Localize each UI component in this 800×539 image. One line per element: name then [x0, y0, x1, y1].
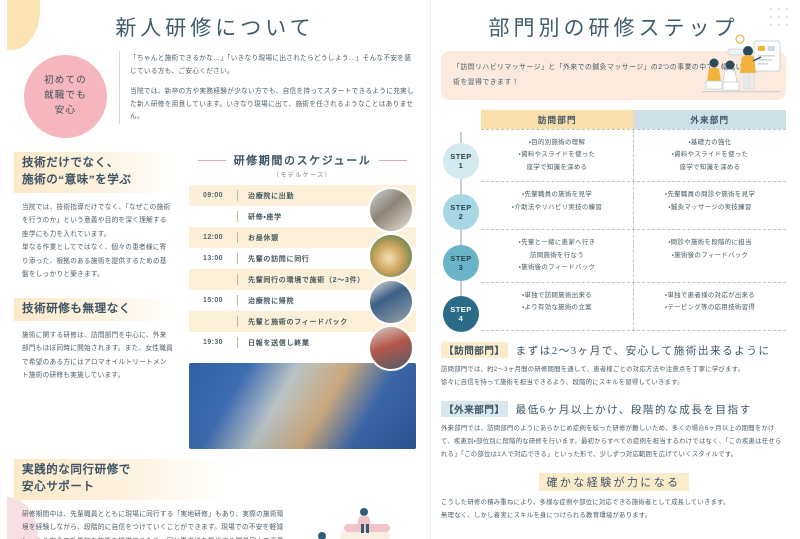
schedule-subtitle: （モデルケース）: [189, 170, 416, 179]
schedule-photo-lunch: [368, 233, 414, 279]
schedule-label: 先輩と施術のフィードバック: [238, 317, 348, 327]
schedule-title-row: 研修期間のスケジュール: [189, 152, 416, 168]
schedule-label: 先輩同行の環境で施術（2〜3件）: [238, 275, 365, 285]
intro-paragraph-1: 「ちゃんと施術できるかな…」「いきなり現場に出されたらどうしよう…」そんな不安を…: [130, 53, 416, 79]
business-note-box: 「訪問リハビリマッサージ」と「外来での鍼灸マッサージ」の2つの事業の中で、幅広い…: [441, 51, 786, 100]
section-head-visit: 【訪問部門】 まずは2〜3ヶ月で、安心して施術出来るように: [441, 342, 786, 358]
schedule-panel: 研修期間のスケジュール （モデルケース） 09:00 治療院に出勤 研修・座学: [189, 152, 416, 449]
step-2-outpatient-cell: ・先輩職員の問診や施術を見学・鍼灸マッサージの実技練習: [634, 182, 786, 229]
step-1-outpatient-cell: ・基礎力の強化・資料やスライドを使った座学で知識を深める: [634, 130, 786, 181]
schedule-photo-visit: [368, 279, 414, 325]
column-header-outpatient: 外来部門: [634, 110, 787, 129]
closing-title: 確かな経験が力になる: [539, 473, 689, 491]
step-label: STEP: [450, 305, 472, 314]
step-number: 2: [459, 212, 464, 221]
step-3-outpatient-cell: ・問診や施術を段階的に担当・施術後のフィードバック: [634, 230, 786, 281]
section-body-outpatient: 外来部門では、訪問部門のようにあらかじめ症例を絞った研修が難しいため、多くの場合…: [441, 423, 786, 462]
block-body-meaning: 当院では、技術指導だけでなく、「なぜこの施術を行うのか」という意義や目的を深く理…: [14, 193, 177, 282]
block-body-accompaniment: 研修期間中は、先輩職員とともに現場に同行する「実地研修」もあり、実際の施術環境を…: [14, 500, 300, 539]
schedule-label: 治療院に出勤: [238, 191, 294, 201]
text-block-meaning: 技術だけでなく、施術の“意味”を学ぶ 当院では、技術指導だけでなく、「なぜこの施…: [14, 152, 177, 282]
schedule-time: 13:00: [189, 255, 237, 262]
right-column: 部門別の研修ステップ 「訪問リハビリマッサージ」と「外来での鍼灸マッサージ」の2…: [430, 0, 800, 539]
steps-row-2: ・先輩職員の施術を見学・介助法やリハビリ実技の練習 ・先輩職員の問診や施術を見学…: [481, 181, 786, 229]
schedule-photo-feedback: [368, 325, 414, 371]
section-body-visit: 訪問部門では、約2〜3ヶ月間の研修期間を通して、患者様ごとの対応方法や注意点を丁…: [441, 364, 786, 390]
step-circle-1: STEP 1: [443, 143, 479, 179]
rule-left: [198, 160, 226, 161]
steps-row-1: ・目的別施術の理解・資料やスライドを使った座学で知識を深める ・基礎力の強化・資…: [481, 129, 786, 181]
step-number: 3: [459, 263, 464, 272]
steps-row-3: ・先輩と一緒に患家へ行き訪問施術を行なう・施術後のフィードバック ・問診や施術を…: [481, 229, 786, 281]
step-4-outpatient-cell: ・単独で患者様の対応が出来る・テーピング等の応用技術習得: [634, 283, 786, 330]
step-label: STEP: [450, 152, 472, 161]
left-text-blocks: 技術だけでなく、施術の“意味”を学ぶ 当院では、技術指導だけでなく、「なぜこの施…: [14, 152, 177, 449]
text-block-accompaniment: 実践的な同行研修で安心サポート: [14, 459, 229, 500]
schedule-title: 研修期間のスケジュール: [234, 152, 372, 168]
steps-bottom-rule: [481, 330, 786, 331]
step-2-visit-cell: ・先輩職員の施術を見学・介助法やリハビリ実技の練習: [481, 182, 634, 229]
schedule-label: 先輩の訪問に同行: [238, 254, 310, 264]
steps-rail: STEP 1 STEP 2 STEP 3 STEP 4: [441, 110, 481, 331]
schedule-time: 12:00: [189, 234, 237, 241]
left-column: 新人研修について 初めての 就職でも 安心 「ちゃんと施術できるかな…」「いきな…: [0, 0, 430, 539]
reassurance-badge: 初めての 就職でも 安心: [24, 55, 107, 138]
section-title-outpatient: 最低6ヶ月以上かけ、段階的な成長を目指す: [516, 402, 752, 417]
schedule-time: 09:00: [189, 192, 237, 199]
section-visit-department: 【訪問部門】 まずは2〜3ヶ月で、安心して施術出来るように 訪問部門では、約2〜…: [441, 342, 786, 390]
block-heading-accompaniment: 実践的な同行研修で安心サポート: [14, 459, 229, 500]
section-title-visit: まずは2〜3ヶ月で、安心して施術出来るように: [516, 343, 771, 358]
section-tag-outpatient: 【外来部門】: [441, 401, 508, 417]
section-tag-visit: 【訪問部門】: [441, 342, 508, 358]
group-training-photo: [189, 363, 416, 449]
block-heading-technical: 技術研修も無理なく: [14, 298, 177, 321]
steps-row-4: ・単独で訪問施術出来る・より有効な施術の立案 ・単独で患者様の対応が出来る・テー…: [481, 282, 786, 330]
step-3-visit-cell: ・先輩と一緒に患家へ行き訪問施術を行なう・施術後のフィードバック: [481, 230, 634, 281]
schedule-label: 日報を送信し終業: [238, 338, 310, 348]
step-circle-2: STEP 2: [443, 194, 479, 230]
intro-row: 初めての 就職でも 安心 「ちゃんと施術できるかな…」「いきなり現場に出されたら…: [14, 51, 416, 138]
block-body-technical: 施術に関する研修は、訪問部門を中心に、外来部門もほぼ同時に開始されます。また、女…: [14, 321, 177, 383]
step-number: 4: [459, 314, 464, 323]
steps-header-row: 訪問部門 外来部門: [481, 110, 786, 129]
presentation-people-illustration: [692, 33, 788, 107]
step-label: STEP: [450, 254, 472, 263]
schedule-time: 15:00: [189, 297, 237, 304]
schedule-label: お昼休憩: [238, 233, 279, 243]
closing-section: 確かな経験が力になる: [441, 461, 786, 491]
left-lower-area: 技術だけでなく、施術の“意味”を学ぶ 当院では、技術指導だけでなく、「なぜこの施…: [14, 152, 416, 449]
schedule-rows: 09:00 治療院に出勤 研修・座学 12:00 お昼休憩: [189, 185, 416, 353]
closing-body: こうした研修の積み重ねにより、多様な症例や部位に対応できる施術者として成長してい…: [441, 497, 786, 523]
step-circle-3: STEP 3: [443, 245, 479, 281]
text-block-technical: 技術研修も無理なく 施術に関する研修は、訪問部門を中心に、外来部門もほぼ同時に開…: [14, 298, 177, 383]
infographic-page: 新人研修について 初めての 就職でも 安心 「ちゃんと施術できるかな…」「いきな…: [0, 0, 800, 539]
badge-line-3: 安心: [55, 104, 76, 119]
column-header-visit: 訪問部門: [481, 110, 634, 129]
section-outpatient-department: 【外来部門】 最低6ヶ月以上かけ、段階的な成長を目指す 外来部門では、訪問部門の…: [441, 401, 786, 462]
step-circle-4: STEP 4: [443, 296, 479, 332]
block-heading-meaning: 技術だけでなく、施術の“意味”を学ぶ: [14, 152, 177, 193]
badge-line-1: 初めての: [44, 74, 87, 89]
section-head-outpatient: 【外来部門】 最低6ヶ月以上かけ、段階的な成長を目指す: [441, 401, 786, 417]
left-page-title: 新人研修について: [14, 12, 416, 42]
people-on-books-illustration: [306, 506, 416, 539]
step-label: STEP: [450, 203, 472, 212]
rule-right: [379, 160, 407, 161]
step-1-visit-cell: ・目的別施術の理解・資料やスライドを使った座学で知識を深める: [481, 130, 634, 181]
schedule-time: 19:30: [189, 339, 237, 346]
step-4-visit-cell: ・単独で訪問施術出来る・より有効な施術の立案: [481, 283, 634, 330]
steps-table: 訪問部門 外来部門 ・目的別施術の理解・資料やスライドを使った座学で知識を深める…: [481, 110, 786, 331]
badge-line-2: 就職でも: [44, 89, 87, 104]
schedule-photo-clinic: [368, 187, 414, 233]
intro-paragraph-2: 当院では、新卒の方や実務経験が少ない方でも、自信を持ってスタートできるように充実…: [130, 86, 416, 125]
intro-paragraphs: 「ちゃんと施術できるかな…」「いきなり現場に出されたらどうしよう…」そんな不安を…: [119, 51, 416, 124]
schedule-label: 治療院に帰院: [238, 296, 294, 306]
step-number: 1: [459, 161, 464, 170]
steps-diagram: STEP 1 STEP 2 STEP 3 STEP 4 訪問部門: [441, 110, 786, 331]
schedule-label: 研修・座学: [238, 212, 282, 222]
